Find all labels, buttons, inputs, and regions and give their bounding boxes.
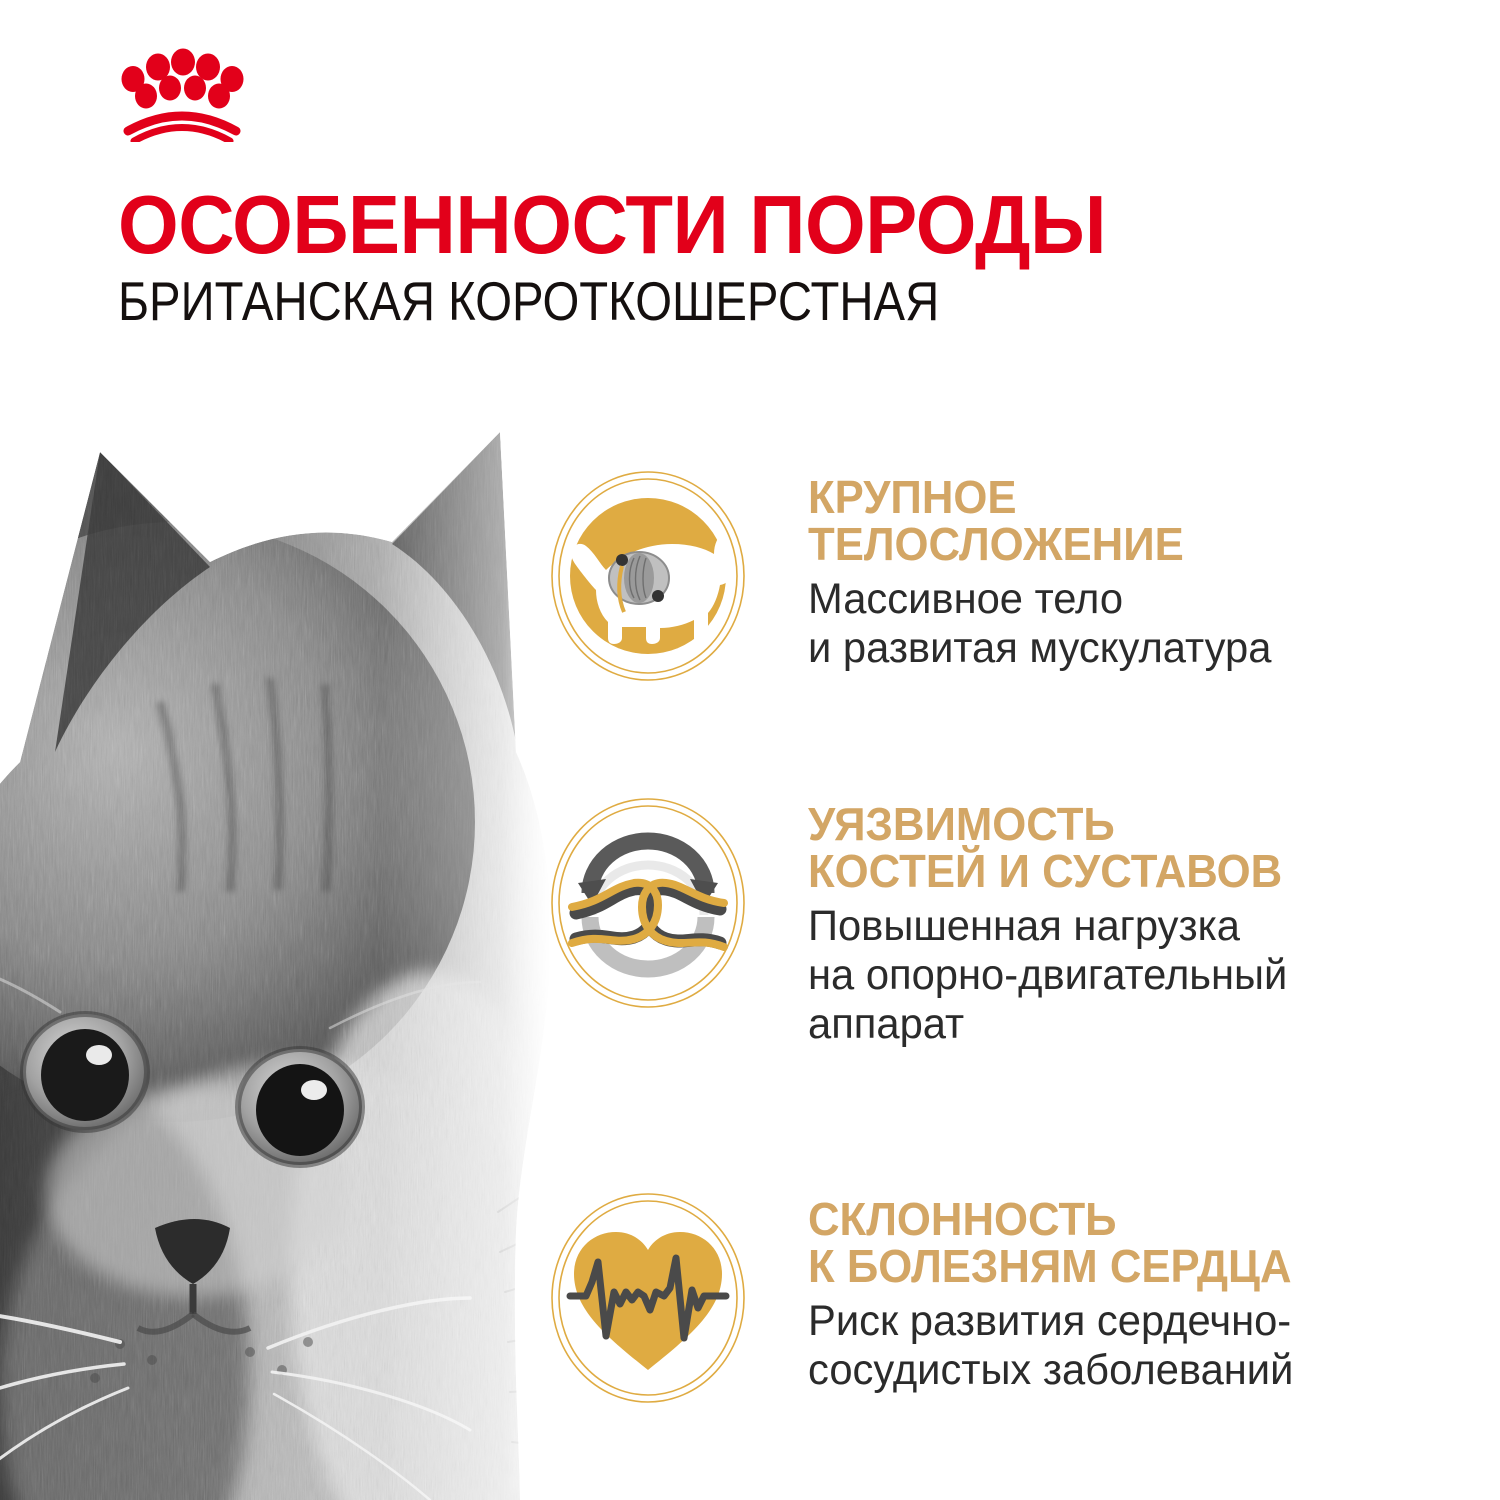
feature-title: СКЛОННОСТЬ К БОЛЕЗНЯМ СЕРДЦА <box>808 1196 1426 1291</box>
page-subtitle: БРИТАНСКАЯ КОРОТКОШЕРСТНАЯ <box>118 274 1150 329</box>
page-title: ОСОБЕННОСТИ ПОРОДЫ <box>118 186 1246 264</box>
heart-ecg-icon <box>548 1192 748 1404</box>
feature-text-large-build: КРУПНОЕ ТЕЛОСЛОЖЕНИЕ Массивное тело и ра… <box>808 470 1458 673</box>
feature-description: Массивное тело и развитая мускулатура <box>808 575 1439 673</box>
royal-canin-crown-logo-icon <box>118 46 246 142</box>
cat-body-muscle-icon <box>548 470 748 682</box>
feature-block-bones-joints: УЯЗВИМОСТЬ КОСТЕЙ И СУСТАВОВ Повышенная … <box>548 797 1458 1049</box>
header: ОСОБЕННОСТИ ПОРОДЫ БРИТАНСКАЯ КОРОТКОШЕР… <box>118 46 1318 329</box>
feature-description: Повышенная нагрузка на опорно-двигательн… <box>808 902 1439 1049</box>
feature-text-heart-disease: СКЛОННОСТЬ К БОЛЕЗНЯМ СЕРДЦА Риск развит… <box>808 1192 1458 1395</box>
feature-block-heart-disease: СКЛОННОСТЬ К БОЛЕЗНЯМ СЕРДЦА Риск развит… <box>548 1192 1458 1395</box>
feature-text-bones-joints: УЯЗВИМОСТЬ КОСТЕЙ И СУСТАВОВ Повышенная … <box>808 797 1458 1049</box>
feature-title: КРУПНОЕ ТЕЛОСЛОЖЕНИЕ <box>808 474 1426 569</box>
breed-features-poster: ОСОБЕННОСТИ ПОРОДЫ БРИТАНСКАЯ КОРОТКОШЕР… <box>0 0 1500 1500</box>
feature-block-large-build: КРУПНОЕ ТЕЛОСЛОЖЕНИЕ Массивное тело и ра… <box>548 470 1458 673</box>
bones-joints-icon <box>548 797 748 1009</box>
feature-description: Риск развития сердечно- сосудистых забол… <box>808 1297 1439 1395</box>
feature-title: УЯЗВИМОСТЬ КОСТЕЙ И СУСТАВОВ <box>808 801 1426 896</box>
cat-photo <box>0 392 560 1500</box>
